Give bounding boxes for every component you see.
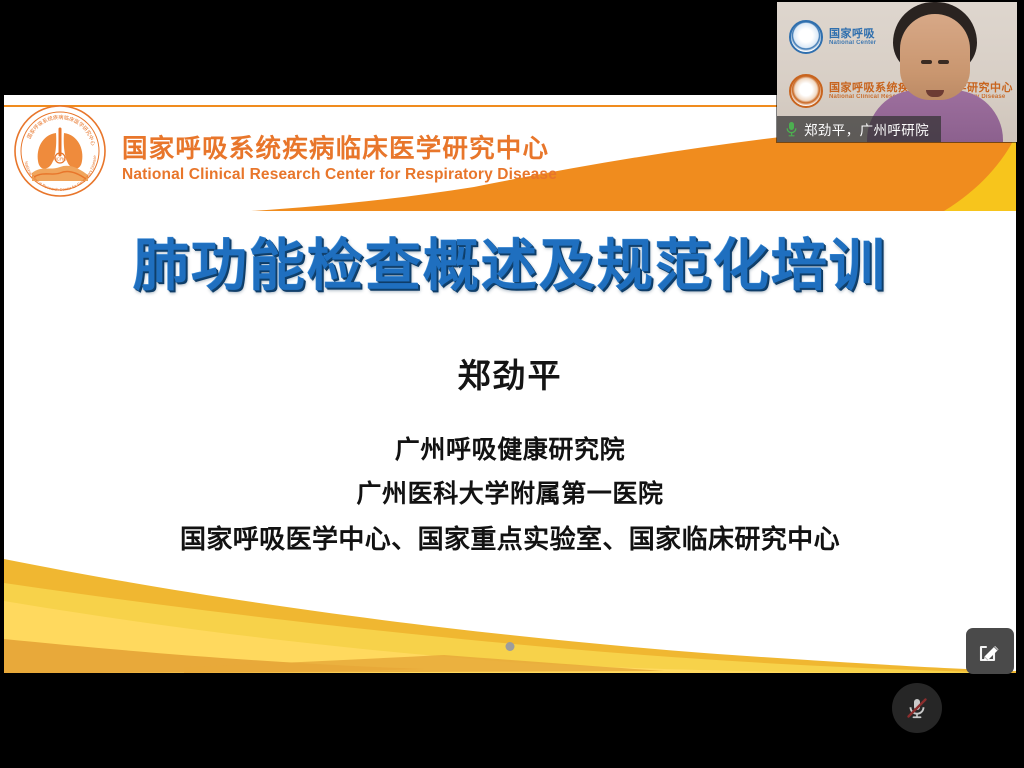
meeting-viewport: NCRC 国家呼吸系统疾病临床医学研究中心 National Clinical … (0, 0, 1024, 768)
pencil-annotate-icon (977, 638, 1003, 664)
slide-bottom-decoration (4, 543, 1016, 673)
portrait-face (900, 14, 970, 100)
portrait-eye-right (921, 60, 932, 64)
slide-position-dot (506, 642, 515, 651)
affiliation-list: 广州呼吸健康研究院 广州医科大学附属第一医院 国家呼吸医学中心、国家重点实验室、… (4, 429, 1016, 562)
org-name-en: National Clinical Research Center for Re… (122, 165, 557, 185)
svg-text:NCRC: NCRC (53, 157, 67, 162)
participant-name-bar: 郑劲平，广州呼研院 (777, 116, 941, 142)
backdrop-logo-top: 国家呼吸 National Center (789, 20, 876, 54)
microphone-on-icon (785, 121, 798, 137)
speaker-name: 郑劲平 (4, 356, 1016, 396)
page-title: 肺功能检查概述及规范化培训 (4, 235, 1016, 298)
slide-header: NCRC 国家呼吸系统疾病临床医学研究中心 National Clinical … (12, 103, 557, 199)
microphone-mute-button[interactable] (892, 683, 942, 733)
participant-video-tile[interactable]: 国家呼吸 National Center 国家呼吸系统疾病临床医学研究中心 Na… (777, 2, 1017, 142)
portrait-mouth (926, 90, 944, 97)
lungs-emblem-small-icon (789, 74, 823, 108)
backdrop-logo-top-en: National Center (829, 40, 876, 47)
backdrop-logo-top-cn: 国家呼吸 (829, 28, 876, 40)
presentation-slide[interactable]: NCRC 国家呼吸系统疾病临床医学研究中心 National Clinical … (4, 95, 1016, 673)
annotate-tool-button[interactable] (966, 628, 1014, 674)
microphone-muted-icon (903, 694, 931, 722)
header-org-text: 国家呼吸系统疾病临床医学研究中心 National Clinical Resea… (122, 117, 557, 186)
slide-title-block: 肺功能检查概述及规范化培训 郑劲平 广州呼吸健康研究院 广州医科大学附属第一医院… (4, 235, 1016, 562)
org-name-cn: 国家呼吸系统疾病临床医学研究中心 (122, 135, 557, 164)
participant-name-label: 郑劲平，广州呼研院 (804, 119, 929, 139)
affiliation-line: 广州呼吸健康研究院 (4, 429, 1016, 473)
ncrd-badge-icon (789, 20, 823, 54)
lungs-emblem-icon: NCRC 国家呼吸系统疾病临床医学研究中心 National Clinical … (12, 103, 108, 199)
affiliation-line: 广州医科大学附属第一医院 (4, 473, 1016, 517)
affiliation-line: 国家呼吸医学中心、国家重点实验室、国家临床研究中心 (4, 517, 1016, 563)
portrait-eye-left (938, 60, 949, 64)
